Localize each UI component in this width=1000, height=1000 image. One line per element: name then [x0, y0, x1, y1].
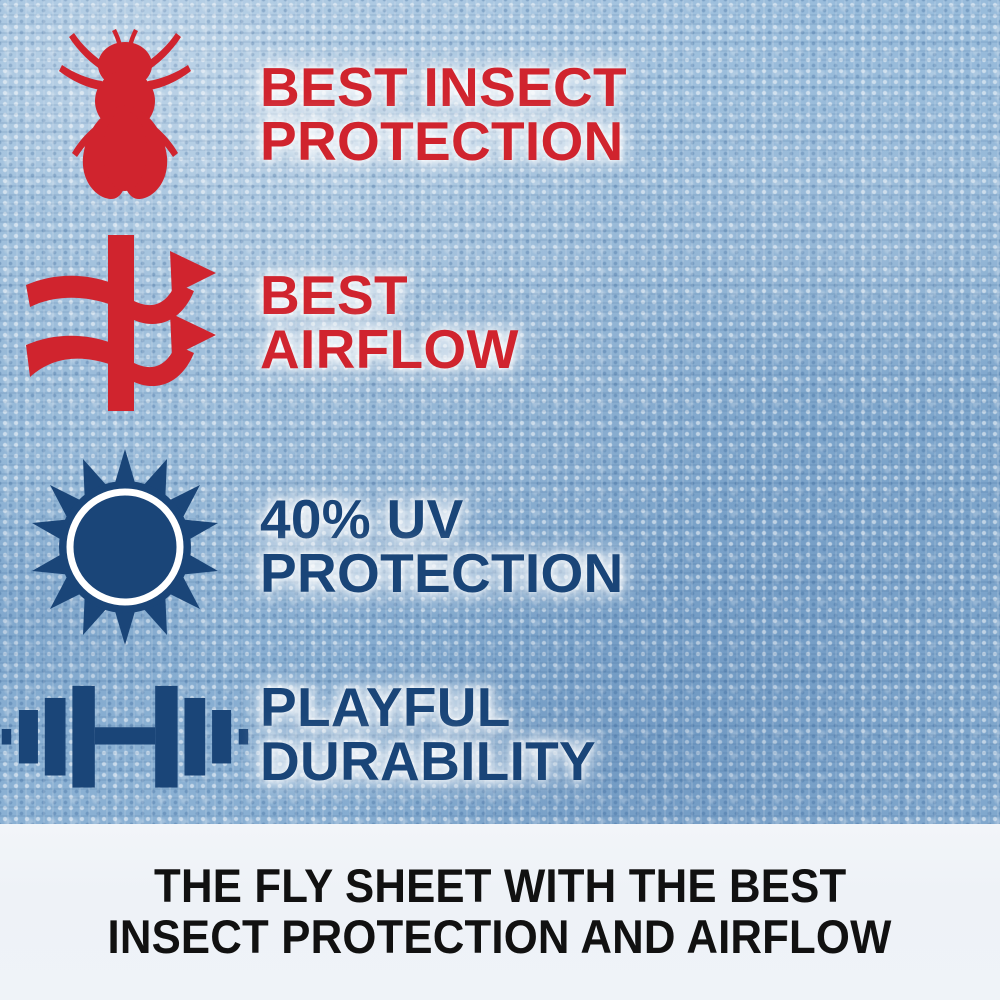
feature-icon-cell: [0, 670, 250, 800]
feature-icon-cell: [0, 233, 250, 413]
feature-text-cell: PLAYFUL DURABILITY: [250, 681, 596, 789]
feature-label-line1: PLAYFUL: [260, 681, 596, 735]
feature-row-insect-protection: BEST INSECT PROTECTION: [0, 20, 1000, 210]
sun-uv-icon: [25, 447, 225, 647]
feature-icon-cell: [0, 23, 250, 208]
airflow-arrows-icon: [20, 233, 230, 413]
feature-text-cell: BEST INSECT PROTECTION: [250, 61, 627, 169]
feature-label-line1: BEST: [260, 269, 519, 323]
feature-label-line2: DURABILITY: [260, 735, 596, 789]
feature-list: BEST INSECT PROTECTION: [0, 0, 1000, 824]
feature-row-durability: PLAYFUL DURABILITY: [0, 652, 1000, 817]
feature-label-line1: 40% UV: [260, 493, 624, 547]
infographic-canvas: BEST INSECT PROTECTION: [0, 0, 1000, 1000]
feature-label-line2: PROTECTION: [260, 547, 624, 601]
fly-icon: [50, 23, 200, 208]
feature-row-airflow: BEST AIRFLOW: [0, 228, 1000, 418]
feature-icon-cell: [0, 447, 250, 647]
dumbbell-icon: [0, 670, 250, 800]
caption-bar: THE FLY SHEET WITH THE BEST INSECT PROTE…: [0, 824, 1000, 1000]
caption-line-1: THE FLY SHEET WITH THE BEST: [154, 861, 846, 912]
feature-label-line2: AIRFLOW: [260, 323, 519, 377]
feature-text-cell: BEST AIRFLOW: [250, 269, 519, 377]
feature-label-line2: PROTECTION: [260, 115, 627, 169]
sun-disc: [70, 492, 180, 602]
feature-row-uv-protection: 40% UV PROTECTION: [0, 442, 1000, 652]
caption-line-2: INSECT PROTECTION AND AIRFLOW: [108, 912, 892, 963]
feature-text-cell: 40% UV PROTECTION: [250, 493, 624, 601]
feature-label-line1: BEST INSECT: [260, 61, 627, 115]
